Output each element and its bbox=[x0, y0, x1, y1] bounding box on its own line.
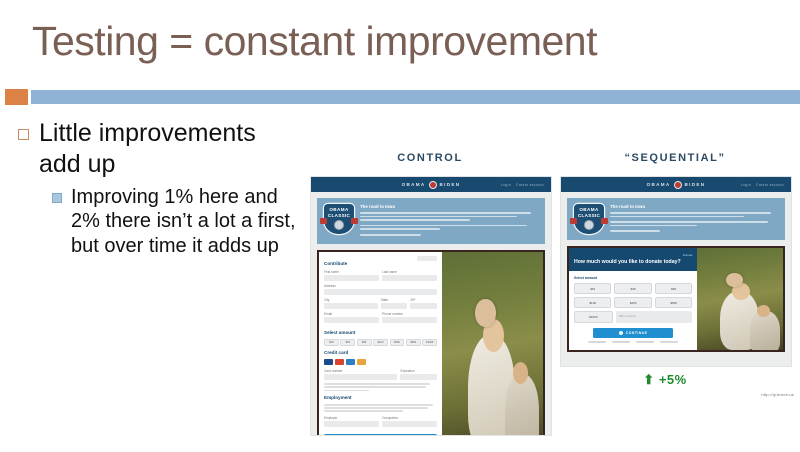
accent-square bbox=[5, 89, 28, 105]
banner-copy: The road to Iowa bbox=[360, 204, 538, 238]
input-card-number[interactable] bbox=[324, 374, 397, 380]
input-zip[interactable] bbox=[410, 303, 437, 309]
screenshot-control: OBAMA BIDEN Login Create account OBAMA C… bbox=[310, 176, 552, 436]
banner-copy: The road to Iowa bbox=[610, 204, 778, 234]
label-email: Email bbox=[324, 312, 379, 316]
amount-button[interactable]: $100 bbox=[574, 297, 611, 308]
obama-classic-shield-icon: OBAMA CLASSIC bbox=[574, 204, 604, 234]
amount-chip[interactable]: $250 bbox=[390, 339, 405, 347]
brand-right-text: BIDEN bbox=[685, 182, 706, 187]
donate-tab[interactable]: Donate bbox=[574, 253, 692, 257]
bullet-level2-text: Improving 1% here and 2% there isn’t a l… bbox=[71, 185, 298, 258]
basketball-icon bbox=[584, 220, 594, 230]
visa-icon bbox=[324, 359, 333, 365]
amount-chip-row: $15 $25 $50 $100 $250 $500 $1000 bbox=[324, 339, 437, 347]
hero-photo bbox=[442, 252, 543, 436]
label-employer: Employer bbox=[324, 416, 379, 420]
brand-right-text: BIDEN bbox=[440, 182, 461, 187]
bullet-level1-text: Little improvements add up bbox=[39, 118, 298, 179]
nav-link-create-account: Create account bbox=[756, 183, 784, 187]
label-last-name: Last name bbox=[382, 270, 437, 274]
page-title: Testing = constant improvement bbox=[32, 20, 772, 63]
brand-left-text: OBAMA bbox=[647, 182, 671, 187]
other-amount-row: $1000 Other amount bbox=[574, 311, 692, 322]
donation-form: Contribute First name Last name Address … bbox=[319, 252, 442, 436]
campaign-seal-icon bbox=[429, 181, 437, 189]
amount-chip[interactable]: $50 bbox=[357, 339, 372, 347]
amount-chip[interactable]: $25 bbox=[340, 339, 355, 347]
amount-button[interactable]: $50 bbox=[655, 283, 692, 294]
amount-button[interactable]: $250 bbox=[614, 297, 651, 308]
input-first-name[interactable] bbox=[324, 275, 379, 281]
shield-right-tab bbox=[601, 218, 608, 224]
bullet-list: Little improvements add up Improving 1% … bbox=[18, 118, 298, 258]
mastercard-icon bbox=[335, 359, 344, 365]
amount-heading: Select amount bbox=[324, 330, 437, 335]
obama-biden-logo: OBAMA BIDEN bbox=[647, 181, 706, 189]
amount-picker: Select amount $15 $25 $50 $100 $250 $500… bbox=[569, 271, 697, 350]
select-expiration[interactable] bbox=[400, 374, 437, 380]
source-url: http://ly.brnch.us bbox=[724, 392, 794, 397]
label-phone: Phone number bbox=[382, 312, 437, 316]
obama-classic-shield-icon: OBAMA CLASSIC bbox=[324, 204, 354, 234]
amount-button[interactable]: $15 bbox=[574, 283, 611, 294]
label-zip: ZIP bbox=[410, 298, 437, 302]
shield-left-tab bbox=[320, 218, 327, 224]
amount-button[interactable]: $500 bbox=[655, 297, 692, 308]
amount-chip[interactable]: $100 bbox=[373, 339, 388, 347]
mock-nav-links: Login Create account bbox=[741, 183, 784, 187]
banner-heading: The road to Iowa bbox=[610, 204, 778, 209]
input-last-name[interactable] bbox=[382, 275, 437, 281]
donate-now-button[interactable]: DONATE NOW bbox=[324, 434, 437, 436]
lift-indicator: ⬆ +5% bbox=[600, 372, 730, 388]
sub-bullet-square-icon bbox=[52, 193, 62, 203]
brand-left-text: OBAMA bbox=[402, 182, 426, 187]
other-amount-input[interactable]: Other amount bbox=[616, 311, 693, 322]
input-employer[interactable] bbox=[324, 421, 379, 427]
obama-biden-logo: OBAMA BIDEN bbox=[402, 181, 461, 189]
bullet-level2: Improving 1% here and 2% there isn’t a l… bbox=[52, 185, 298, 258]
caption-sequential: “SEQUENTIAL” bbox=[560, 152, 790, 164]
basketball-icon bbox=[334, 220, 344, 230]
card-brand-icons bbox=[324, 359, 437, 365]
up-arrow-icon: ⬆ bbox=[643, 372, 654, 387]
shield-right-tab bbox=[351, 218, 358, 224]
nav-link-login: Login bbox=[501, 183, 511, 187]
amount-chip[interactable]: $15 bbox=[324, 339, 339, 347]
ask-panel: Donate How much would you like to donate… bbox=[569, 248, 697, 271]
continue-button[interactable]: CONTINUE bbox=[593, 328, 674, 339]
shield-left-tab bbox=[570, 218, 577, 224]
caption-control: CONTROL bbox=[310, 152, 550, 164]
mock-banner: OBAMA CLASSIC The road to Iowa bbox=[317, 198, 545, 244]
input-occupation[interactable] bbox=[382, 421, 437, 427]
campaign-seal-icon bbox=[674, 181, 682, 189]
amount-chip[interactable]: $1000 bbox=[422, 339, 437, 347]
footer-links bbox=[574, 338, 692, 345]
banner-heading: The road to Iowa bbox=[360, 204, 538, 209]
label-first-name: First name bbox=[324, 270, 379, 274]
ask-heading: How much would you like to donate today? bbox=[574, 259, 692, 266]
continue-label: CONTINUE bbox=[626, 331, 648, 335]
accent-bar bbox=[31, 90, 800, 104]
amex-icon bbox=[346, 359, 355, 365]
amount-chip[interactable]: $500 bbox=[406, 339, 421, 347]
mock-nav-links: Login Create account bbox=[501, 183, 544, 187]
slide-canvas: Testing = constant improvement Little im… bbox=[0, 0, 800, 452]
label-state: State bbox=[381, 298, 408, 302]
bullet-level1: Little improvements add up bbox=[18, 118, 298, 179]
label-card-number: Card number bbox=[324, 369, 397, 373]
input-address[interactable] bbox=[324, 289, 437, 295]
lock-icon bbox=[619, 331, 623, 335]
amount-button[interactable]: $1000 bbox=[574, 311, 613, 322]
amount-heading: Select amount bbox=[574, 276, 692, 280]
nav-link-login: Login bbox=[741, 183, 751, 187]
lift-value: +5% bbox=[659, 372, 687, 387]
select-state[interactable] bbox=[381, 303, 408, 309]
mock-content: Donate How much would you like to donate… bbox=[567, 246, 785, 352]
screenshot-sequential: OBAMA BIDEN Login Create account OBAMA C… bbox=[560, 176, 792, 367]
mock-navbar: OBAMA BIDEN Login Create account bbox=[561, 177, 791, 192]
hero-photo bbox=[697, 248, 783, 350]
mock-banner: OBAMA CLASSIC The road to Iowa bbox=[567, 198, 785, 240]
input-phone[interactable] bbox=[382, 317, 437, 323]
label-address: Address bbox=[324, 284, 437, 288]
amount-grid: $15 $25 $50 $100 $250 $500 bbox=[574, 283, 692, 308]
donate-tab[interactable] bbox=[417, 256, 437, 261]
card-heading: Credit card bbox=[324, 350, 437, 355]
form-heading: Contribute bbox=[324, 261, 437, 266]
label-city: City bbox=[324, 298, 378, 302]
label-expiration: Expiration bbox=[400, 369, 437, 373]
mock-content: Contribute First name Last name Address … bbox=[317, 250, 545, 436]
employment-heading: Employment bbox=[324, 395, 437, 400]
bullet-square-icon bbox=[18, 129, 29, 140]
mock-navbar: OBAMA BIDEN Login Create account bbox=[311, 177, 551, 192]
input-city[interactable] bbox=[324, 303, 378, 309]
nav-link-create-account: Create account bbox=[516, 183, 544, 187]
input-email[interactable] bbox=[324, 317, 379, 323]
label-occupation: Occupation bbox=[382, 416, 437, 420]
sequential-ask: Donate How much would you like to donate… bbox=[569, 248, 697, 350]
discover-icon bbox=[357, 359, 366, 365]
amount-button[interactable]: $25 bbox=[614, 283, 651, 294]
